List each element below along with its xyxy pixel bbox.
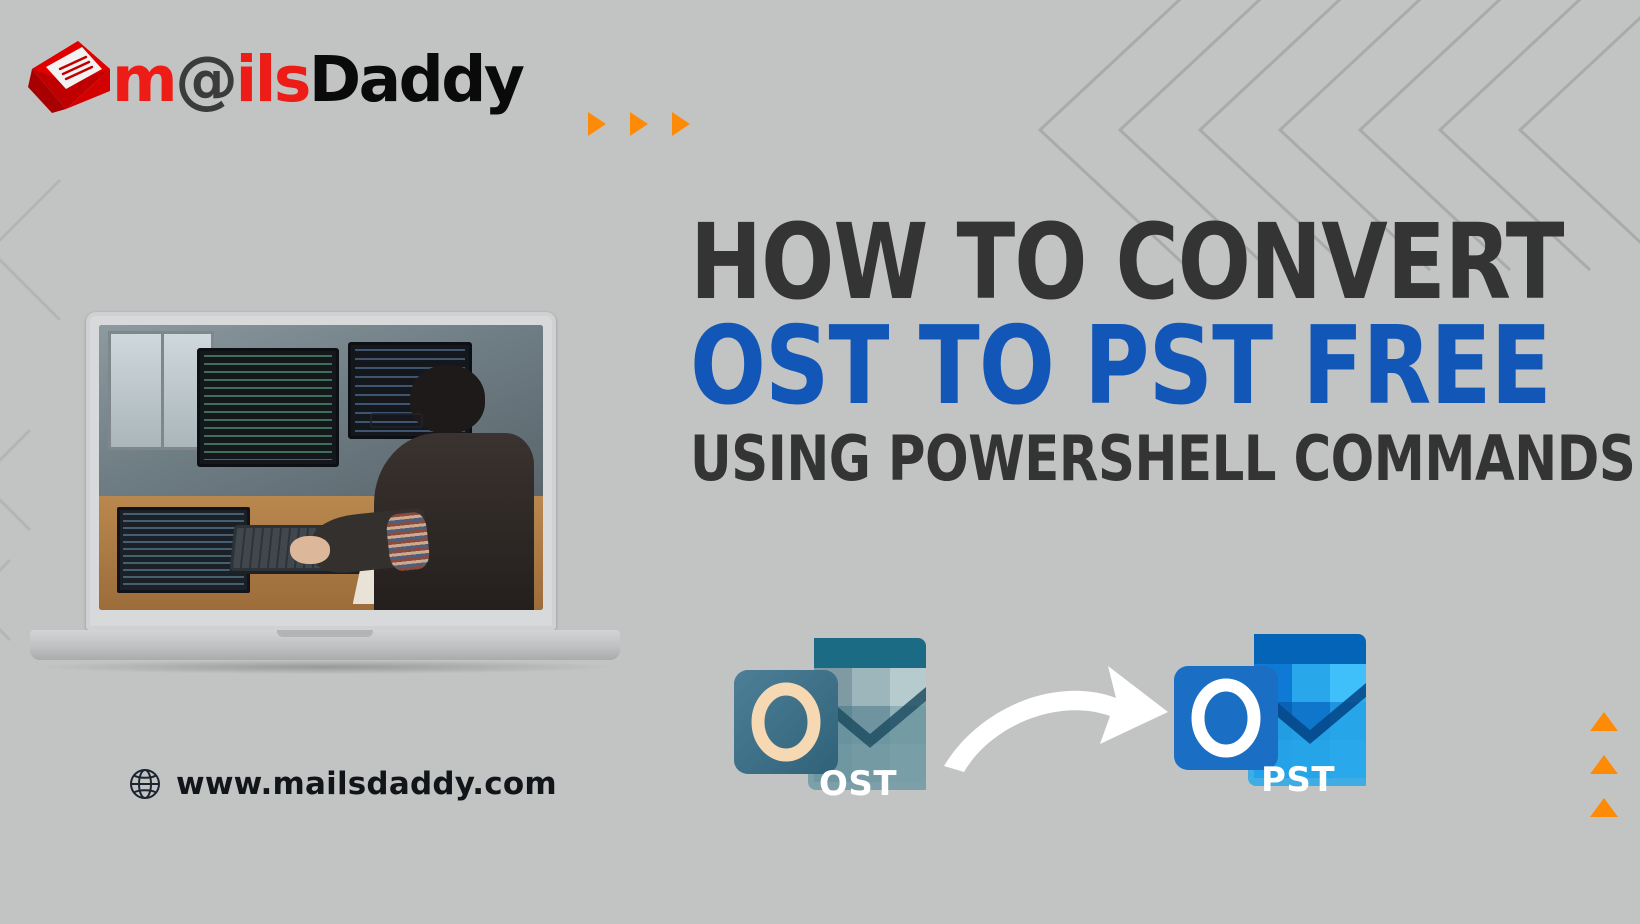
laptop-screen-frame	[86, 312, 556, 630]
laptop-base	[30, 630, 620, 660]
headline-line-3: USING POWERSHELL COMMANDS	[690, 430, 1389, 487]
mailsdaddy-logo[interactable]: m@ilsDaddy	[26, 36, 522, 116]
up-triangle-3-icon	[1590, 798, 1618, 817]
headline-line-1: HOW TO CONVERT	[690, 215, 1389, 311]
play-triangle-3-icon	[672, 112, 690, 136]
laptop-shadow	[40, 660, 610, 674]
play-triangle-1-icon	[588, 112, 606, 136]
up-triangle-2-icon	[1590, 755, 1618, 774]
page-title: HOW TO CONVERT OST TO PST FREE USING POW…	[690, 215, 1450, 487]
up-triangles-decoration	[1590, 712, 1618, 817]
ost-to-pst-conversion-graphic: OST	[726, 612, 1386, 820]
banner-graphic: m@ilsDaddy	[0, 0, 1640, 924]
website-url-block[interactable]: www.mailsdaddy.com	[128, 766, 557, 802]
logo-text-at: @	[175, 43, 236, 116]
outlook-pst-file-icon	[1166, 618, 1366, 808]
logo-text-m: m	[112, 43, 175, 116]
laptop-screen	[99, 325, 543, 610]
laptop-illustration	[30, 312, 620, 707]
play-triangle-2-icon	[630, 112, 648, 136]
outlook-ost-file-icon	[726, 622, 926, 812]
envelope-letter-icon	[26, 39, 112, 113]
globe-icon	[128, 767, 162, 801]
headline-line-2: OST TO PST FREE	[690, 317, 1389, 416]
ost-file-block: OST	[726, 622, 926, 812]
developer-workspace-photo	[99, 325, 543, 610]
pst-file-block: PST	[1166, 618, 1366, 808]
logo-wordmark: m@ilsDaddy	[112, 48, 522, 111]
play-triangles-decoration	[588, 112, 690, 136]
logo-text-ils: ils	[236, 43, 309, 116]
curved-arrow-right-icon	[940, 654, 1170, 774]
up-triangle-1-icon	[1590, 712, 1618, 731]
website-url-text: www.mailsdaddy.com	[176, 766, 557, 802]
logo-text-daddy: Daddy	[309, 43, 523, 116]
